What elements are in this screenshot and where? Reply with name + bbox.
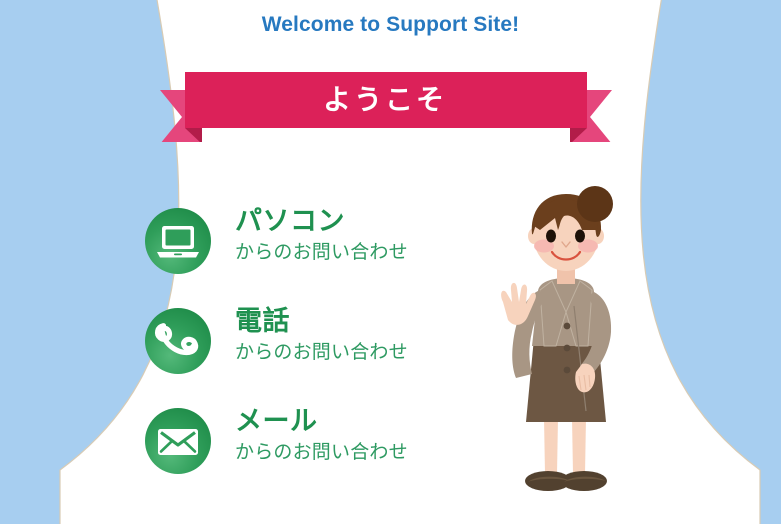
laptop-icon[interactable] <box>143 206 213 276</box>
hair-bun <box>577 186 613 222</box>
contact-item-mail[interactable]: メール からのお問い合わせ <box>143 406 493 506</box>
right-leg <box>572 418 586 474</box>
waving-businesswoman-illustration <box>478 186 658 516</box>
right-eye <box>575 230 585 243</box>
welcome-page: Welcome to Support Site! ようこそ <box>0 0 781 524</box>
contact-subtitle-pc: からのお問い合わせ <box>235 240 495 266</box>
ribbon-label: ようこそ <box>185 72 585 128</box>
contact-subtitle-mail: からのお問い合わせ <box>235 440 495 466</box>
welcome-ribbon: ようこそ <box>160 62 612 142</box>
contact-method-list: パソコン からのお問い合わせ <box>143 206 493 506</box>
contact-text-mail: メール からのお問い合わせ <box>235 404 495 466</box>
left-leg <box>544 418 558 474</box>
contact-text-pc: パソコン からのお問い合わせ <box>235 204 495 266</box>
contact-text-phone: 電話 からのお問い合わせ <box>235 304 495 366</box>
page-title: Welcome to Support Site! <box>0 13 781 37</box>
contact-title-pc: パソコン <box>235 204 495 238</box>
jacket-button-bottom <box>564 367 571 374</box>
contact-item-phone[interactable]: 電話 からのお問い合わせ <box>143 306 493 406</box>
jacket-button-middle <box>564 345 571 352</box>
phone-icon[interactable] <box>143 306 213 376</box>
contact-item-pc[interactable]: パソコン からのお問い合わせ <box>143 206 493 306</box>
mail-icon[interactable] <box>143 406 213 476</box>
left-eye <box>546 230 556 243</box>
jacket-button-top <box>564 323 571 330</box>
contact-subtitle-phone: からのお問い合わせ <box>235 340 495 366</box>
contact-title-phone: 電話 <box>235 304 495 338</box>
right-shoe <box>561 471 607 491</box>
contact-title-mail: メール <box>235 404 495 438</box>
